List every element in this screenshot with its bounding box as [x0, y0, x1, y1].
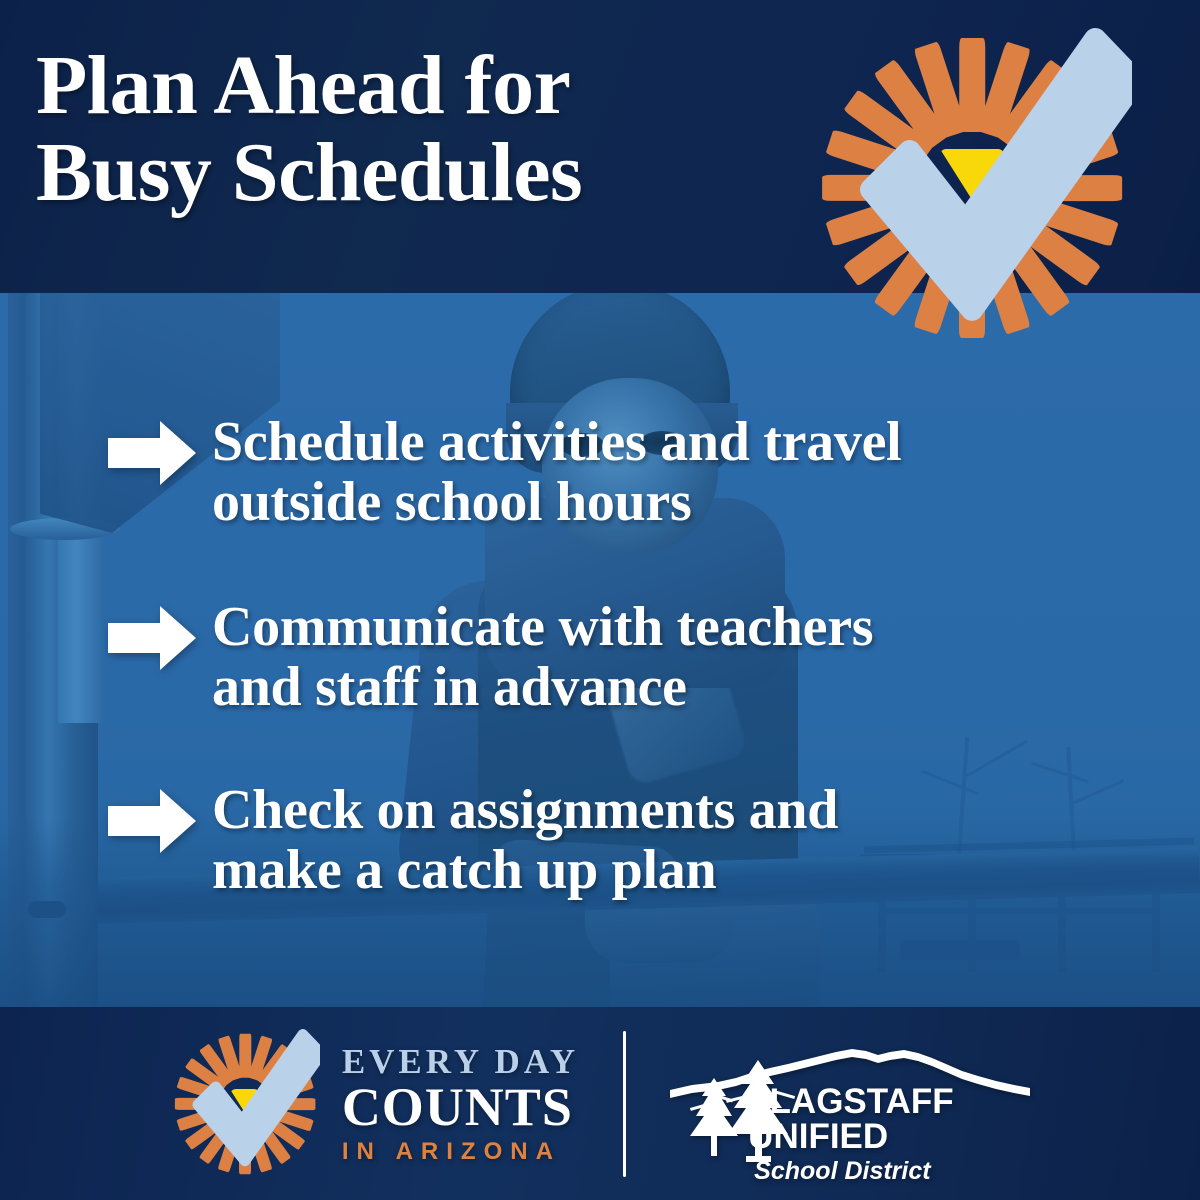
- bullet-2-line-2: and staff in advance: [212, 656, 687, 718]
- bullet-text-3: Check on assignments and make a catch up…: [212, 781, 838, 901]
- every-day-counts-logo: EVERY DAY COUNTS IN ARIZONA: [170, 1028, 579, 1180]
- every-day-counts-wordmark: EVERY DAY COUNTS IN ARIZONA: [342, 1044, 579, 1164]
- bullet-2-line-1: Communicate with teachers: [212, 596, 873, 658]
- page-title-line-2: Busy Schedules: [36, 129, 816, 216]
- page-title: Plan Ahead for Busy Schedules: [36, 42, 816, 217]
- every-day-counts-logo-mark-small: [170, 1028, 320, 1180]
- bullet-item-3: Check on assignments and make a catch up…: [108, 781, 838, 901]
- right-arrow-icon: [108, 606, 196, 670]
- bullet-item-1: Schedule activities and travel outside s…: [108, 413, 901, 533]
- edc-in-arizona-text: IN ARIZONA: [342, 1140, 561, 1164]
- page-title-line-1: Plan Ahead for: [36, 42, 816, 129]
- right-arrow-icon: [108, 421, 196, 485]
- footer-band: EVERY DAY COUNTS IN ARIZONA: [0, 1007, 1200, 1200]
- bullet-item-2: Communicate with teachers and staff in a…: [108, 598, 873, 718]
- checkmark-icon: [170, 1028, 320, 1180]
- edc-counts-text: COUNTS: [342, 1080, 573, 1134]
- poster-root: Plan Ahead for Busy Schedules Schedule a…: [0, 0, 1200, 1200]
- bullet-1-line-2: outside school hours: [212, 471, 691, 533]
- flagstaff-unified-name: FLAGSTAFF UNIFIED: [748, 1084, 1030, 1154]
- bullet-text-1: Schedule activities and travel outside s…: [212, 413, 901, 533]
- footer-divider: [623, 1031, 626, 1177]
- bullet-text-2: Communicate with teachers and staff in a…: [212, 598, 873, 718]
- flagstaff-unified-wordmark: FLAGSTAFF UNIFIED School District: [748, 1084, 1030, 1184]
- bullet-3-line-1: Check on assignments and: [212, 779, 838, 841]
- edc-every-day-text: EVERY DAY: [342, 1044, 579, 1079]
- bullet-3-line-2: make a catch up plan: [212, 839, 716, 901]
- bullet-list: Schedule activities and travel outside s…: [0, 293, 1200, 1007]
- flagstaff-school-district-subtitle: School District: [754, 1159, 930, 1184]
- flagstaff-unified-logo: FLAGSTAFF UNIFIED School District: [670, 1038, 1030, 1170]
- bullet-1-line-1: Schedule activities and travel: [212, 411, 901, 473]
- right-arrow-icon: [108, 789, 196, 853]
